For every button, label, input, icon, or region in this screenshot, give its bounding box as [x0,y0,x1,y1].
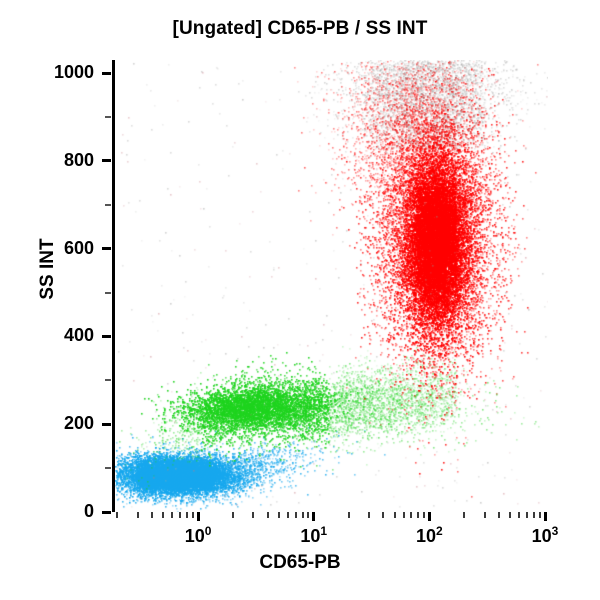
x-tick-minor [368,512,370,518]
x-tick-minor [509,512,511,518]
x-tick-minor [278,512,280,518]
x-tick-minor [307,512,309,518]
x-tick-minor [162,512,164,518]
flow-cytometry-plot: [Ungated] CD65-PB / SS INT 1000800600400… [0,0,600,600]
x-tick-minor [171,512,173,518]
x-tick-minor [151,512,153,518]
x-tick-minor [518,512,520,518]
x-tick-minor [267,512,269,518]
x-tick-label: 102 [416,526,443,547]
y-tick-major [102,423,111,426]
x-tick-major [544,512,547,521]
y-tick-label: 200 [24,413,94,434]
x-tick-minor [403,512,405,518]
x-tick-minor [186,512,188,518]
y-tick-minor [105,116,111,118]
y-tick-major [102,247,111,250]
x-tick-minor [287,512,289,518]
y-tick-label: 600 [24,238,94,259]
x-tick-minor [179,512,181,518]
x-tick-label: 100 [185,526,212,547]
y-tick-label: 0 [24,501,94,522]
y-tick-major [102,335,111,338]
y-axis-title: SS INT [37,189,59,349]
x-tick-minor [423,512,425,518]
x-tick-minor [417,512,419,518]
y-tick-label: 400 [24,325,94,346]
x-tick-minor [533,512,535,518]
x-tick-major [312,512,315,521]
x-tick-major [197,512,200,521]
x-tick-minor [410,512,412,518]
x-tick-minor [252,512,254,518]
x-tick-minor [526,512,528,518]
y-tick-minor [105,204,111,206]
x-tick-label: 103 [532,526,559,547]
y-tick-label: 800 [24,150,94,171]
x-tick-label: 101 [300,526,327,547]
y-tick-major [102,159,111,162]
x-tick-minor [192,512,194,518]
x-axis-title: CD65-PB [0,552,600,574]
x-tick-minor [498,512,500,518]
y-tick-major [102,511,111,514]
x-tick-minor [463,512,465,518]
y-tick-minor [105,292,111,294]
y-tick-major [102,72,111,75]
x-tick-minor [348,512,350,518]
x-tick-minor [484,512,486,518]
x-tick-minor [394,512,396,518]
y-tick-label: 1000 [24,62,94,83]
x-tick-minor [302,512,304,518]
plot-area [112,60,545,512]
x-tick-minor [539,512,541,518]
x-tick-minor [232,512,234,518]
y-tick-minor [105,379,111,381]
x-tick-major [428,512,431,521]
y-tick-minor [105,467,111,469]
scatter-canvas [115,60,548,512]
x-tick-minor [116,512,118,518]
x-tick-minor [382,512,384,518]
page-title: [Ungated] CD65-PB / SS INT [0,18,600,40]
x-tick-minor [137,512,139,518]
x-tick-minor [295,512,297,518]
